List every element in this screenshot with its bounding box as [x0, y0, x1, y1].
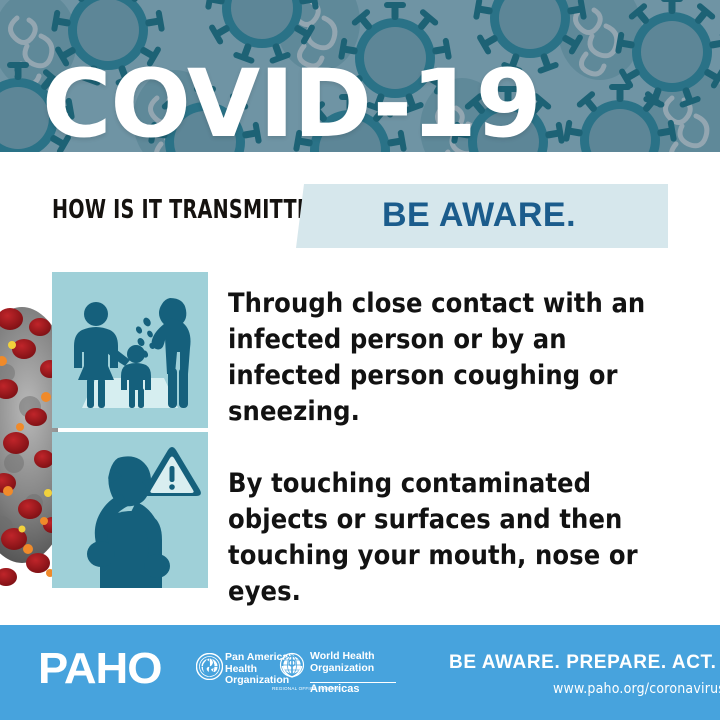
close-contact-coughing-icon	[52, 272, 208, 428]
coronavirus-particle-photo	[0, 277, 58, 592]
page-title: COVID-19	[42, 58, 540, 152]
be-aware-banner: BE AWARE.	[296, 184, 668, 248]
header-banner: COVID-19	[0, 0, 720, 152]
transmission-text-1: Through close contact with an infected p…	[228, 286, 678, 430]
paho-seal-icon	[196, 653, 223, 680]
transmission-text-2: By touching contaminated objects or surf…	[228, 466, 678, 610]
touching-face-warning-icon	[52, 432, 208, 588]
who-region-label: Americas	[310, 683, 360, 695]
icon-touching-face-warning	[52, 432, 208, 588]
who-organization-label: World Health Organization	[310, 651, 375, 674]
covid19-transmission-infographic: COVID-19 HOW IS IT TRANSMITTED? BE AWARE…	[0, 0, 720, 720]
transmission-question: HOW IS IT TRANSMITTED?	[52, 195, 338, 225]
who-org-line-1: World Health	[310, 651, 375, 663]
footer-tagline: BE AWARE. PREPARE. ACT.	[449, 652, 717, 674]
paho-wordmark: PAHO	[38, 645, 161, 693]
virus-particle-illustration	[0, 277, 58, 592]
who-org-line-2: Organization	[310, 663, 375, 675]
who-emblem-icon	[277, 651, 307, 681]
icon-close-contact-coughing	[52, 272, 208, 428]
footer-url[interactable]: www.paho.org/coronavirus	[553, 681, 720, 697]
be-aware-label: BE AWARE.	[382, 193, 576, 237]
